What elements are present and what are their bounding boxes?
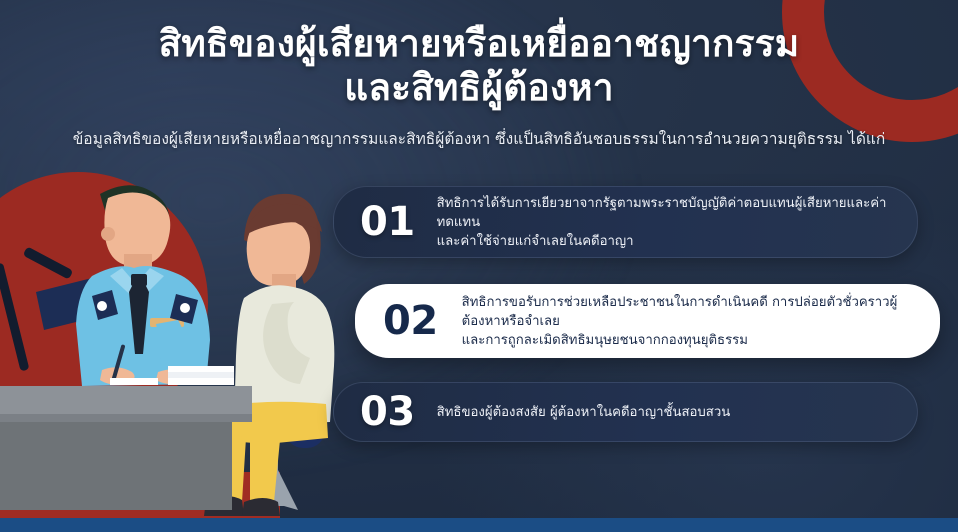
page-title-line2: และสิทธิผู้ต้องหา [0, 66, 958, 110]
list-item-text-line2: และค่าใช้จ่ายแก่จำเลยในคดีอาญา [437, 232, 895, 251]
list-item-02[interactable]: 02 สิทธิการขอรับการช่วยเหลือประชาชนในการ… [355, 284, 940, 358]
bottom-accent-bar [0, 518, 958, 532]
list-item-03[interactable]: 03 สิทธิของผู้ต้องสงสัย ผู้ต้องหาในคดีอา… [333, 382, 918, 442]
infographic-poster: สิทธิของผู้เสียหายหรือเหยื่ออาชญากรรม แล… [0, 0, 958, 532]
header: สิทธิของผู้เสียหายหรือเหยื่ออาชญากรรม แล… [0, 0, 958, 150]
list-item-01[interactable]: 01 สิทธิการได้รับการเยียวยาจากรัฐตามพระร… [333, 186, 918, 258]
page-subtitle: ข้อมูลสิทธิของผู้เสียหายหรือเหยื่ออาชญาก… [14, 128, 944, 150]
list-item-text-line1: สิทธิการขอรับการช่วยเหลือประชาชนในการดำเ… [462, 293, 918, 331]
list-item-text: สิทธิของผู้ต้องสงสัย ผู้ต้องหาในคดีอาญาช… [437, 403, 731, 422]
list-item-text: สิทธิการขอรับการช่วยเหลือประชาชนในการดำเ… [462, 293, 918, 350]
list-item-text-line2: และการถูกละเมิดสิทธิมนุษยชนจากกองทุนยุติ… [462, 331, 918, 350]
page-title: สิทธิของผู้เสียหายหรือเหยื่ออาชญากรรม แล… [0, 0, 958, 110]
list-item-text: สิทธิการได้รับการเยียวยาจากรัฐตามพระราชบ… [437, 194, 895, 251]
rights-list: 01 สิทธิการได้รับการเยียวยาจากรัฐตามพระร… [0, 186, 958, 446]
list-item-text-line1: สิทธิของผู้ต้องสงสัย ผู้ต้องหาในคดีอาญาช… [437, 403, 731, 422]
list-item-number: 03 [360, 392, 415, 432]
list-item-number: 02 [383, 301, 438, 341]
list-item-text-line1: สิทธิการได้รับการเยียวยาจากรัฐตามพระราชบ… [437, 194, 895, 232]
page-title-line1: สิทธิของผู้เสียหายหรือเหยื่ออาชญากรรม [159, 22, 800, 65]
list-item-number: 01 [360, 202, 415, 242]
